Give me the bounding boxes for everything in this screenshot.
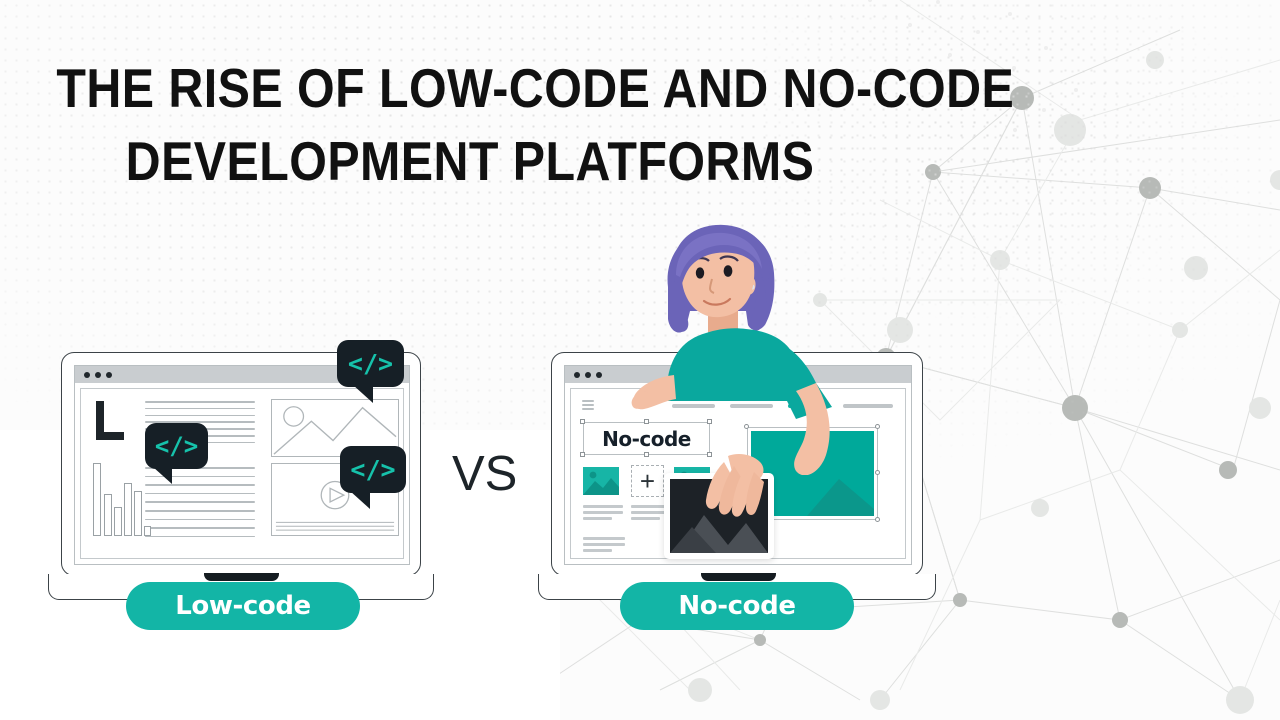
laptop-base-notch xyxy=(204,573,279,581)
paragraph-block-3 xyxy=(583,537,625,552)
code-bubble-left: </> xyxy=(145,423,208,469)
hamburger-icon[interactable] xyxy=(582,400,594,413)
paragraph-block-1 xyxy=(583,505,623,520)
page-title: THE RISE OF LOW-CODE AND NO-CODE DEVELOP… xyxy=(56,52,883,198)
slide-canvas: THE RISE OF LOW-CODE AND NO-CODE DEVELOP… xyxy=(0,0,1280,720)
window-dot-minimize[interactable] xyxy=(95,372,101,378)
image-handle-br[interactable] xyxy=(875,517,880,522)
code-bubble-top: </> xyxy=(337,340,404,387)
no-code-pill[interactable]: No-code xyxy=(620,582,854,630)
title-line-2: DEVELOPMENT PLATFORMS xyxy=(56,125,883,198)
bar-4 xyxy=(124,483,132,536)
window-dot-minimize[interactable] xyxy=(585,372,591,378)
low-code-pill[interactable]: Low-code xyxy=(126,582,360,630)
no-code-pill-label: No-code xyxy=(678,591,795,621)
image-thumbnail-1[interactable] xyxy=(583,467,619,495)
window-dot-maximize[interactable] xyxy=(596,372,602,378)
versus-label: VS xyxy=(452,446,517,502)
bar-chart xyxy=(93,463,145,536)
code-bubble-glyph: </> xyxy=(155,432,198,460)
bar-2 xyxy=(104,494,112,536)
low-code-pill-label: Low-code xyxy=(175,591,311,621)
illustration-hand-dragging xyxy=(694,452,804,552)
image-thumbnail-icon xyxy=(583,467,619,495)
window-dot-close[interactable] xyxy=(84,372,90,378)
code-bubble-glyph: </> xyxy=(350,455,395,484)
text-block-handle-tl[interactable] xyxy=(580,419,585,424)
code-bubble-glyph: </> xyxy=(348,349,393,378)
bar-5 xyxy=(134,491,142,536)
eye-right xyxy=(724,265,733,277)
eye-left xyxy=(696,267,704,278)
window-dot-maximize[interactable] xyxy=(106,372,112,378)
code-bubble-right: </> xyxy=(340,446,406,493)
window-dot-close[interactable] xyxy=(574,372,580,378)
bar-1 xyxy=(93,463,101,536)
laptop-base-notch xyxy=(701,573,776,581)
text-block-handle-bl[interactable] xyxy=(580,452,585,457)
title-line-1: THE RISE OF LOW-CODE AND NO-CODE xyxy=(56,52,883,125)
illustration-person xyxy=(620,215,880,475)
brand-logo-letter xyxy=(93,399,127,441)
bar-6 xyxy=(144,526,151,536)
bar-3 xyxy=(114,507,122,536)
